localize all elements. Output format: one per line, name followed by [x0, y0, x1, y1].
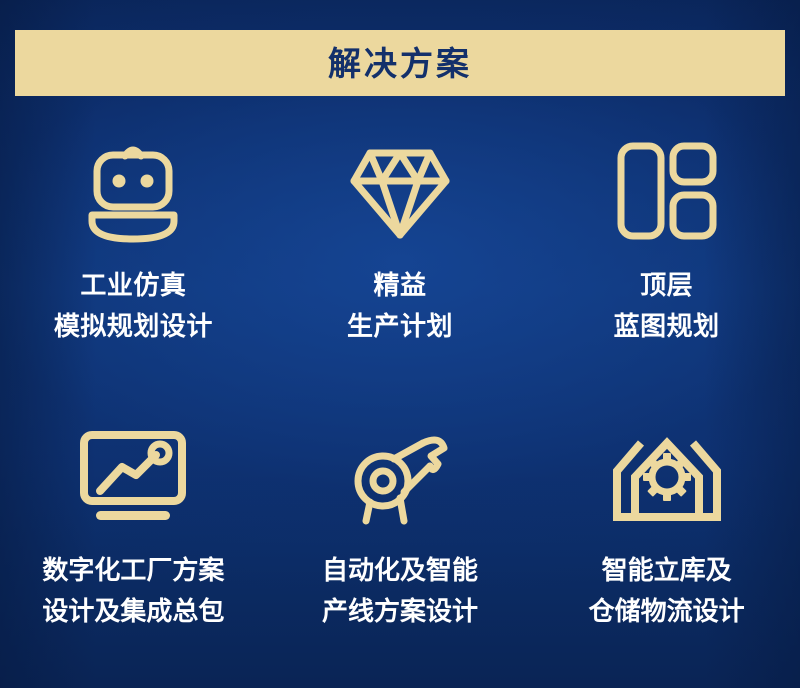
solution-label-line2: 产线方案设计: [322, 592, 478, 633]
solution-card-digital-factory[interactable]: 数字化工厂方案 设计及集成总包: [0, 393, 267, 678]
header-banner: 解决方案: [15, 30, 785, 96]
solution-label: 自动化及智能 产线方案设计: [322, 551, 478, 633]
solution-label: 精益 生产计划: [347, 266, 453, 348]
solutions-grid: 工业仿真 模拟规划设计 精益: [0, 108, 800, 678]
warehouse-gear-icon: [611, 417, 723, 535]
solution-label: 顶层 蓝图规划: [614, 266, 720, 348]
solution-label-line2: 仓储物流设计: [589, 592, 745, 633]
solution-card-lean-production[interactable]: 精益 生产计划: [267, 108, 534, 393]
robot-icon: [83, 132, 183, 250]
solution-label-line2: 蓝图规划: [614, 307, 720, 348]
layout-grid-icon: [615, 132, 719, 250]
page-title: 解决方案: [328, 47, 472, 80]
solution-label: 数字化工厂方案 设计及集成总包: [42, 551, 224, 633]
solution-card-smart-warehouse[interactable]: 智能立库及 仓储物流设计: [533, 393, 800, 678]
solution-card-automation-line[interactable]: 自动化及智能 产线方案设计: [267, 393, 534, 678]
solutions-poster: 解决方案 工业仿真 模拟规划设计: [0, 0, 800, 688]
solution-label: 智能立库及 仓储物流设计: [589, 551, 745, 633]
solution-label-line2: 模拟规划设计: [54, 307, 213, 348]
solution-label-line1: 自动化及智能: [322, 556, 478, 586]
solution-card-top-level-blueprint[interactable]: 顶层 蓝图规划: [533, 108, 800, 393]
solution-label-line1: 智能立库及: [602, 556, 732, 586]
solution-label-line1: 顶层: [640, 271, 693, 301]
diamond-icon: [348, 132, 452, 250]
solution-label-line2: 设计及集成总包: [42, 592, 224, 633]
solution-label-line1: 数字化工厂方案: [42, 556, 224, 586]
solution-label: 工业仿真 模拟规划设计: [54, 266, 213, 348]
solution-label-line1: 精益: [373, 271, 426, 301]
solution-label-line2: 生产计划: [347, 307, 453, 348]
robotic-arm-icon: [347, 417, 453, 535]
chart-monitor-icon: [78, 417, 188, 535]
solution-label-line1: 工业仿真: [80, 271, 186, 301]
solution-card-industrial-simulation[interactable]: 工业仿真 模拟规划设计: [0, 108, 267, 393]
